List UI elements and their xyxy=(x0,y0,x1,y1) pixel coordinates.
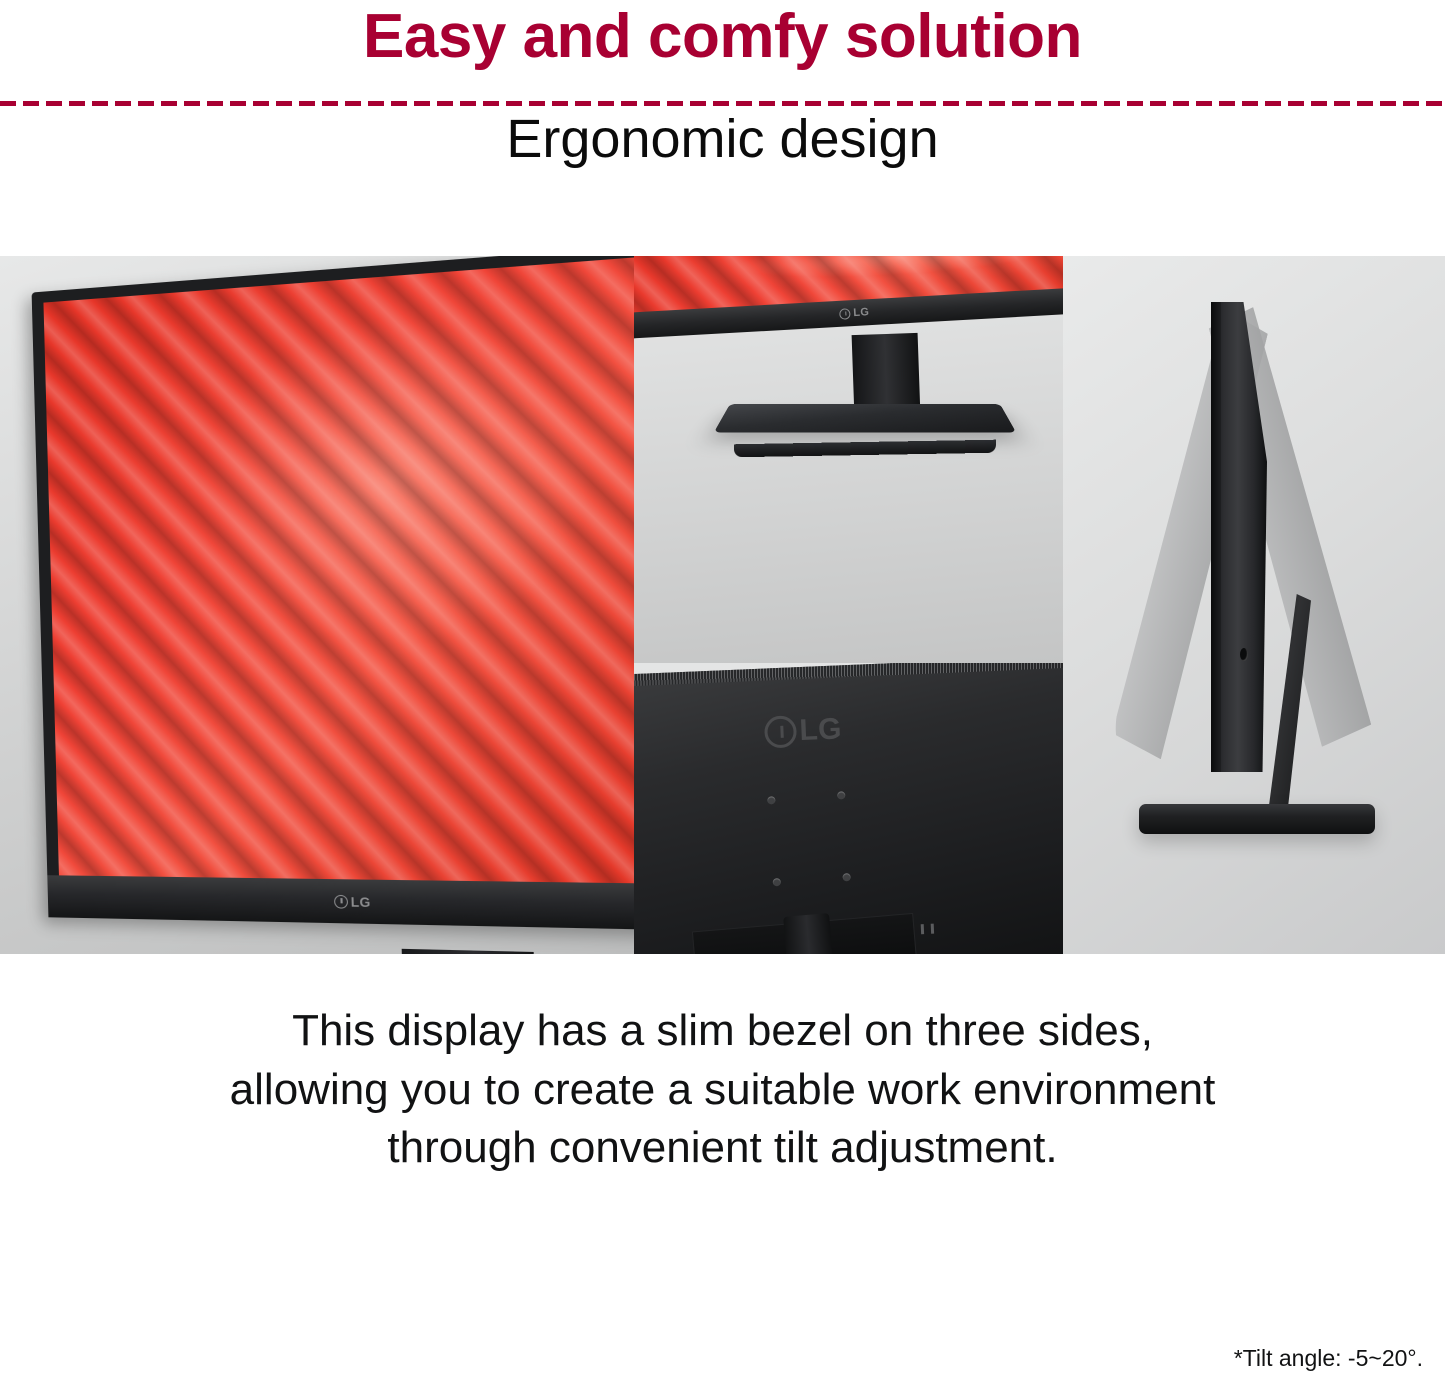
monitor-screen xyxy=(43,256,634,884)
vesa-hole xyxy=(767,796,775,804)
page-headline: Easy and comfy solution xyxy=(0,0,1445,68)
monitor-bottom-bezel: LG xyxy=(47,875,634,930)
body-line-2: allowing you to create a suitable work e… xyxy=(0,1061,1445,1120)
lg-wordmark: LG xyxy=(351,895,371,909)
vesa-hole xyxy=(773,878,781,886)
monitor-side-edge xyxy=(1211,302,1221,772)
port-indicator xyxy=(921,924,924,934)
lg-logo-icon: LG xyxy=(839,307,869,320)
product-image-gallery: LG LG xyxy=(0,256,1445,954)
lg-ring-icon xyxy=(764,715,797,748)
body-line-1: This display has a slim bezel on three s… xyxy=(0,1002,1445,1061)
gallery-pane-middle-column: LG LG xyxy=(634,256,1063,954)
gallery-pane-rear-view: LG xyxy=(634,663,1063,954)
dashed-divider xyxy=(0,101,1445,106)
vent-strip xyxy=(634,663,1063,687)
stand-mount xyxy=(783,913,833,954)
gallery-pane-side-profile-tilt xyxy=(1063,256,1445,954)
tilt-angle-footnote: *Tilt angle: -5~20°. xyxy=(1234,1345,1423,1372)
lg-ring-icon xyxy=(839,308,851,320)
body-copy: This display has a slim bezel on three s… xyxy=(0,1002,1445,1178)
monitor-rear-shell: LG xyxy=(634,663,1063,954)
monitor-stand-neck xyxy=(402,949,536,954)
gallery-pane-stand-closeup: LG xyxy=(634,256,1063,663)
port-indicator xyxy=(931,924,934,934)
lg-logo-icon: LG xyxy=(764,713,843,753)
stand-base xyxy=(1139,804,1375,834)
lg-logo-icon: LG xyxy=(334,894,371,908)
section-subhead: Ergonomic design xyxy=(0,68,1445,166)
vesa-hole xyxy=(837,791,845,799)
vesa-hole xyxy=(843,873,851,881)
stand-base-edge xyxy=(734,440,996,458)
gallery-pane-front-angled-monitor: LG xyxy=(0,256,634,954)
lg-wordmark: LG xyxy=(799,714,842,746)
monitor-front-angled: LG xyxy=(32,256,634,930)
body-line-3: through convenient tilt adjustment. xyxy=(0,1119,1445,1178)
red-stripe-wallpaper xyxy=(43,256,634,884)
lg-ring-icon xyxy=(334,894,348,908)
stand-pivot-hole xyxy=(1240,648,1248,661)
stand-base-top xyxy=(714,404,1016,432)
lg-wordmark: LG xyxy=(853,307,869,319)
